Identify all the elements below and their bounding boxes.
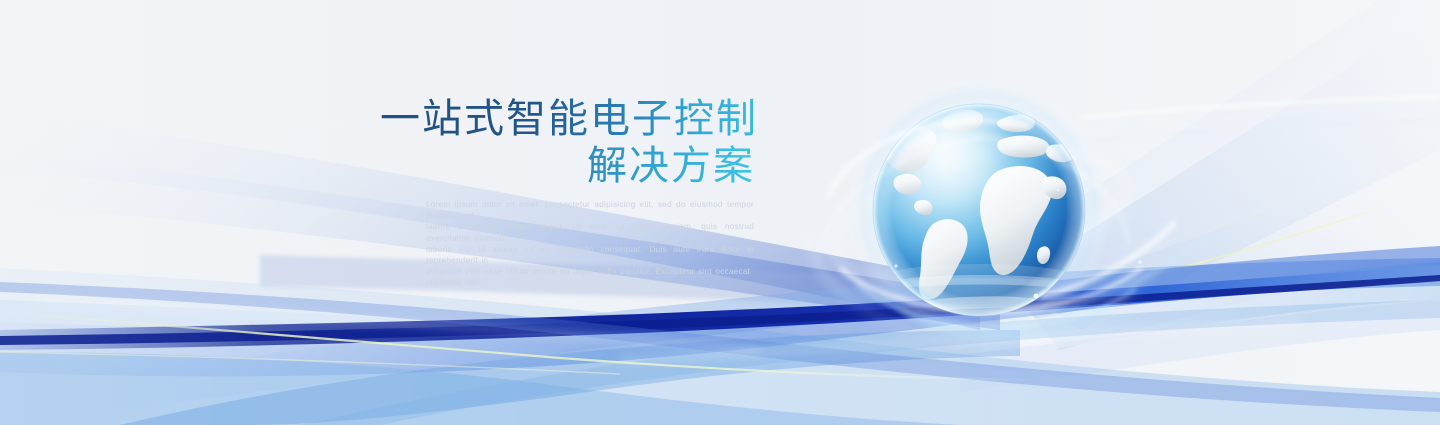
- headline-line-2: 解决方案: [380, 143, 755, 190]
- body-line-4: voluptate velit esse cillum dolore eu fu…: [426, 266, 754, 288]
- body-paragraph: Lorem ipsum dolor sit amet, consectetur …: [426, 199, 754, 289]
- body-line-2: labore et dolore magna aliqua. Ut enim a…: [426, 221, 754, 243]
- hero-banner: 一站式智能电子控制 解决方案 Lorem ipsum dolor sit ame…: [0, 0, 1440, 425]
- body-line-3: laboris nisi ut aliquip ex ea commodo co…: [426, 244, 754, 266]
- hero-copy: 一站式智能电子控制 解决方案 Lorem ipsum dolor sit ame…: [380, 96, 755, 289]
- body-line-1: Lorem ipsum dolor sit amet, consectetur …: [426, 199, 754, 221]
- headline-line-1: 一站式智能电子控制: [380, 96, 755, 143]
